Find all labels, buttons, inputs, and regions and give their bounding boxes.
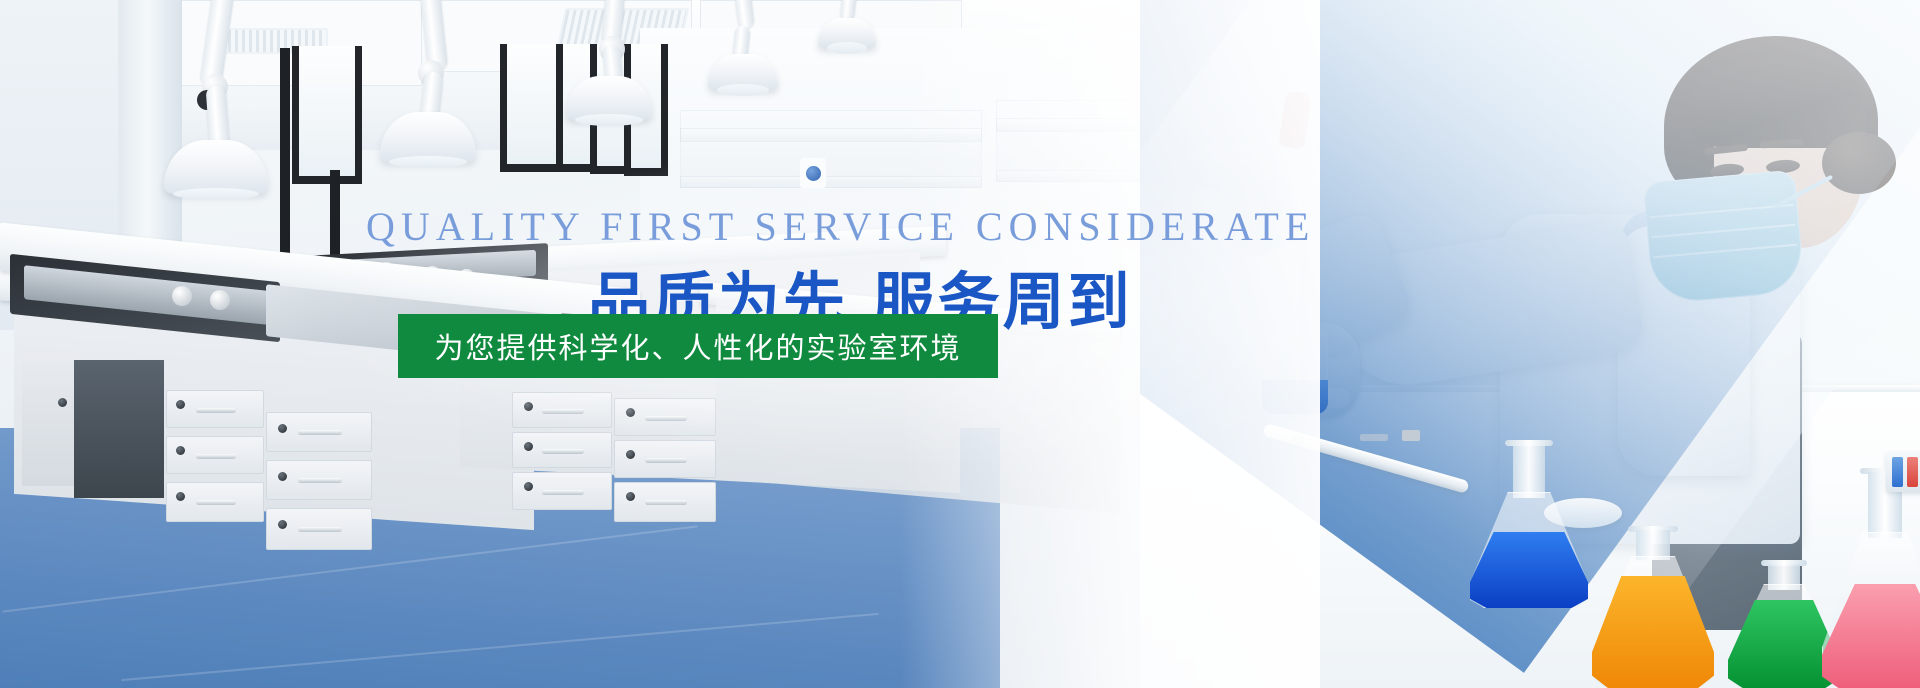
- english-tagline: QUALITY FIRST SERVICE CONSIDERATE: [366, 203, 1315, 250]
- lab-hero-banner: QUALITY FIRST SERVICE CONSIDERATE 品质为先 服…: [0, 0, 1920, 688]
- banner-copy: QUALITY FIRST SERVICE CONSIDERATE 品质为先 服…: [0, 0, 1920, 688]
- subtitle-green-bar: 为您提供科学化、人性化的实验室环境: [398, 314, 998, 378]
- subtitle-chinese: 为您提供科学化、人性化的实验室环境: [434, 325, 961, 367]
